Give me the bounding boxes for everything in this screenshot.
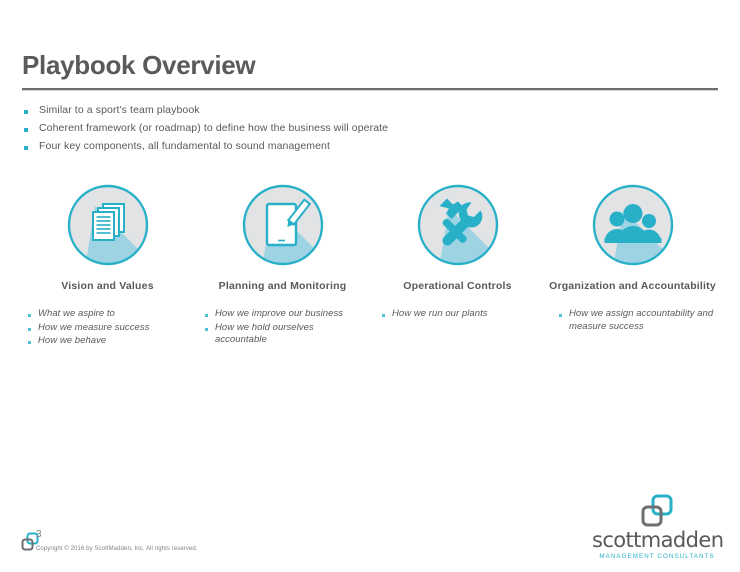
- bullet-text: How we run our plants: [392, 308, 488, 321]
- list-item: How we measure success: [28, 322, 189, 335]
- intro-bullet-list: Similar to a sport's team playbook Coher…: [24, 104, 664, 158]
- bullet-square-icon: [382, 314, 385, 317]
- bullet-list-vision-and-values: What we aspire to How we measure success…: [20, 308, 195, 349]
- people-group-icon: [590, 182, 676, 268]
- bullet-text: How we behave: [38, 335, 106, 348]
- component-title: Planning and Monitoring: [219, 280, 347, 306]
- list-item: How we run our plants: [382, 308, 539, 321]
- overlapping-squares-logo-icon: [592, 494, 722, 528]
- list-item: Coherent framework (or roadmap) to defin…: [24, 122, 664, 135]
- component-title: Vision and Values: [61, 280, 154, 306]
- bullet-square-icon: [24, 110, 28, 114]
- intro-bullet-text: Coherent framework (or roadmap) to defin…: [39, 122, 388, 135]
- component-column-organization-and-accountability: Organization and Accountability: [545, 182, 720, 306]
- component-bullet-lists: What we aspire to How we measure success…: [20, 308, 720, 349]
- list-item: Four key components, all fundamental to …: [24, 140, 664, 153]
- component-column-operational-controls: Operational Controls: [370, 182, 545, 306]
- intro-bullet-text: Four key components, all fundamental to …: [39, 140, 330, 153]
- hammer-wrench-icon: [415, 182, 501, 268]
- bullet-text: How we hold ourselves accountable: [215, 322, 364, 347]
- bullet-text: How we assign accountability and measure…: [569, 308, 714, 333]
- title-divider: [22, 88, 718, 91]
- bullet-square-icon: [205, 314, 208, 317]
- bullet-list-organization-and-accountability: How we assign accountability and measure…: [545, 308, 720, 349]
- page-number: 3: [36, 529, 42, 540]
- slide-canvas: Playbook Overview Similar to a sport's t…: [0, 0, 740, 572]
- brand-tagline: MANAGEMENT CONSULTANTS: [592, 553, 722, 560]
- bullet-square-icon: [205, 328, 208, 331]
- bullet-text: How we improve our business: [215, 308, 343, 321]
- list-item: What we aspire to: [28, 308, 189, 321]
- component-title: Organization and Accountability: [549, 280, 716, 306]
- list-item: How we behave: [28, 335, 189, 348]
- bullet-square-icon: [559, 314, 562, 317]
- copyright-text: Copyright © 2016 by ScottMadden, Inc. Al…: [36, 546, 198, 552]
- tablet-pen-icon: [240, 182, 326, 268]
- page-title: Playbook Overview: [22, 52, 255, 78]
- bullet-square-icon: [28, 328, 31, 331]
- bullet-square-icon: [28, 314, 31, 317]
- list-item: How we hold ourselves accountable: [205, 322, 364, 347]
- intro-bullet-text: Similar to a sport's team playbook: [39, 104, 200, 117]
- list-item: How we assign accountability and measure…: [559, 308, 714, 333]
- brand-name: scottmadden: [592, 530, 722, 551]
- list-item: Similar to a sport's team playbook: [24, 104, 664, 117]
- component-title: Operational Controls: [403, 280, 511, 306]
- documents-stack-icon: [65, 182, 151, 268]
- bullet-square-icon: [24, 146, 28, 150]
- component-columns: Vision and Values: [20, 182, 720, 306]
- brand-logo: scottmadden MANAGEMENT CONSULTANTS: [592, 494, 722, 560]
- bullet-list-planning-and-monitoring: How we improve our business How we hold …: [195, 308, 370, 349]
- bullet-list-operational-controls: How we run our plants: [370, 308, 545, 349]
- bullet-square-icon: [24, 128, 28, 132]
- component-column-vision-and-values: Vision and Values: [20, 182, 195, 306]
- bullet-square-icon: [28, 341, 31, 344]
- list-item: How we improve our business: [205, 308, 364, 321]
- bullet-text: How we measure success: [38, 322, 149, 335]
- bullet-text: What we aspire to: [38, 308, 115, 321]
- component-column-planning-and-monitoring: Planning and Monitoring: [195, 182, 370, 306]
